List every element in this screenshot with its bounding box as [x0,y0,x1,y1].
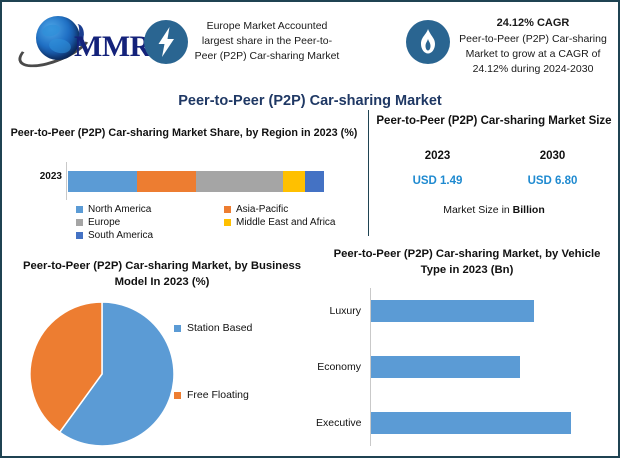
region-segment [68,171,137,192]
region-legend-item: Middle East and Africa [224,217,362,228]
region-plot-area [66,162,326,200]
year-forecast: 2030 [540,150,566,162]
legend-swatch-icon [76,206,83,213]
footnote-prefix: Market Size in [443,204,512,216]
pie-legend-item: Free Floating [174,389,312,401]
region-legend-item: Europe [76,217,224,228]
region-legend-label: Europe [88,217,120,228]
region-legend-label: Asia-Pacific [236,204,288,215]
cagr-callout-text: Peer-to-Peer (P2P) Car-sharing Market to… [459,33,607,75]
vehicle-category-label: Executive [316,417,366,429]
vehicle-bar-row: Luxury [316,296,616,326]
bolt-icon [144,20,188,64]
legend-spacer [224,230,362,241]
region-legend-item: South America [76,230,224,241]
region-segment [196,171,283,192]
pie-legend-label: Free Floating [187,389,249,401]
market-size-panel: Peer-to-Peer (P2P) Car-sharing Market Si… [374,114,614,234]
year-base: 2023 [425,150,451,162]
mmr-logo: MMR [14,12,136,68]
region-chart-title: Peer-to-Peer (P2P) Car-sharing Market Sh… [10,126,358,141]
vehicle-bar-row: Economy [316,352,616,382]
region-legend: North AmericaAsia-PacificEuropeMiddle Ea… [76,204,362,241]
pie-legend-label: Station Based [187,322,252,334]
market-size-footnote: Market Size in Billion [374,204,614,216]
region-segment [305,171,324,192]
page-title: Peer-to-Peer (P2P) Car-sharing Market [2,93,618,109]
infographic-page: MMR Europe Market Accounted largest shar… [0,0,620,458]
vehicle-plot-area: LuxuryEconomyExecutive [316,288,616,446]
legend-swatch-icon [174,392,181,399]
vehicle-category-label: Economy [316,361,366,373]
region-legend-label: South America [88,230,153,241]
flame-icon [406,20,450,64]
vehicle-bar-row: Executive [316,408,616,438]
legend-swatch-icon [224,219,231,226]
value-forecast: USD 6.80 [528,175,578,187]
vehicle-chart-title: Peer-to-Peer (P2P) Car-sharing Market, b… [322,246,612,278]
region-legend-item: North America [76,204,224,215]
header: MMR Europe Market Accounted largest shar… [2,2,618,90]
region-stacked-bar [68,171,324,192]
value-base: USD 1.49 [413,175,463,187]
cagr-headline: 24.12% CAGR [454,16,612,31]
region-legend-label: North America [88,204,151,215]
cagr-callout: 24.12% CAGR Peer-to-Peer (P2P) Car-shari… [454,16,612,77]
region-y-axis-line [66,162,67,200]
region-legend-item: Asia-Pacific [224,204,362,215]
pie-legend-item: Station Based [174,322,312,334]
vehicle-bar [371,412,571,434]
business-model-chart: Peer-to-Peer (P2P) Car-sharing Market, b… [12,258,312,452]
bolt-icon-badge [144,20,188,64]
pie-chart-title: Peer-to-Peer (P2P) Car-sharing Market, b… [12,258,312,290]
footnote-unit: Billion [513,204,545,216]
vehicle-bar [371,356,520,378]
market-size-values: USD 1.49 USD 6.80 [380,175,610,187]
region-legend-label: Middle East and Africa [236,217,336,228]
flame-icon-badge [406,20,450,64]
market-size-title: Peer-to-Peer (P2P) Car-sharing Market Si… [374,114,614,129]
europe-share-callout-text: Europe Market Accounted largest share in… [192,19,342,64]
legend-swatch-icon [76,219,83,226]
region-segment [137,171,196,192]
logo-wordmark: MMR [74,30,151,64]
vehicle-type-chart: Peer-to-Peer (P2P) Car-sharing Market, b… [316,246,616,452]
pie-legend: Station BasedFree Floating [174,322,312,401]
pie-chart [28,300,176,448]
region-share-chart: Peer-to-Peer (P2P) Car-sharing Market Sh… [10,126,358,246]
legend-swatch-icon [174,325,181,332]
vehicle-category-label: Luxury [316,305,366,317]
region-category-label: 2023 [20,171,62,182]
legend-swatch-icon [76,232,83,239]
region-segment [283,171,305,192]
market-size-years: 2023 2030 [380,150,610,162]
vehicle-bar [371,300,534,322]
vertical-divider [368,110,369,236]
legend-swatch-icon [224,206,231,213]
